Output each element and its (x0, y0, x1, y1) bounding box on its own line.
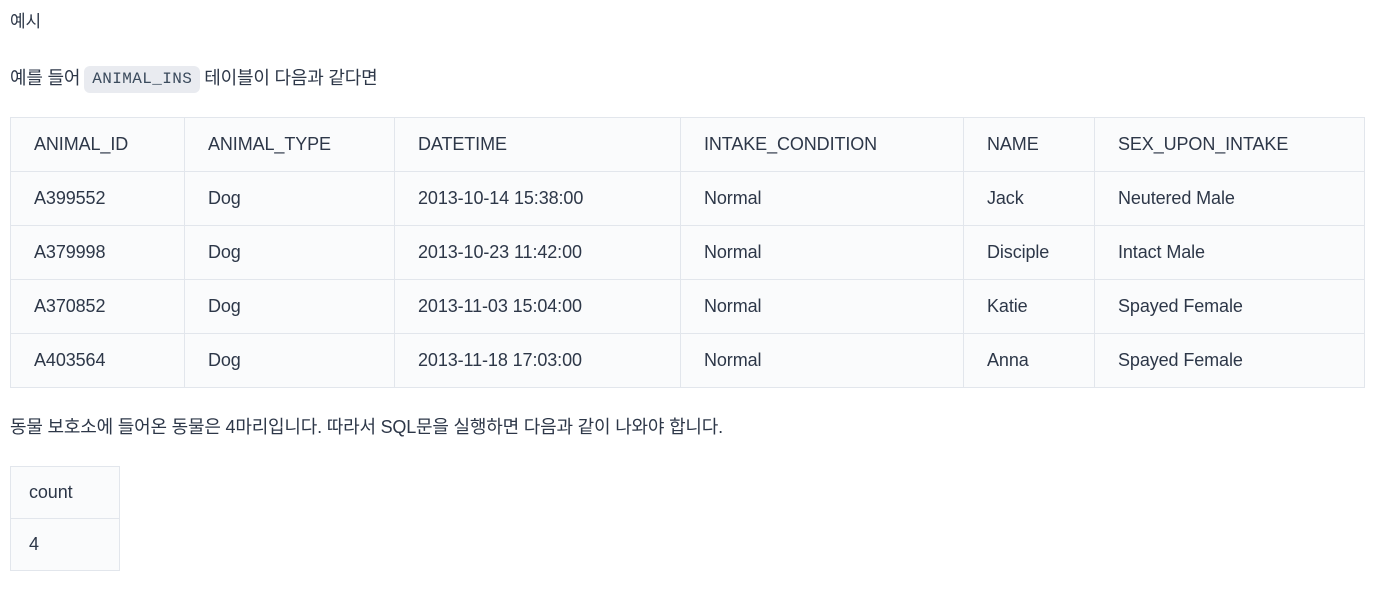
table-header-row: ANIMAL_ID ANIMAL_TYPE DATETIME INTAKE_CO… (11, 117, 1365, 171)
cell-animal-type: Dog (185, 225, 395, 279)
cell-intake-condition: Normal (681, 225, 964, 279)
table-name-code-chip: ANIMAL_INS (84, 66, 200, 93)
count-table-body: 4 (11, 518, 120, 570)
column-header-animal-id: ANIMAL_ID (11, 117, 185, 171)
cell-intake-condition: Normal (681, 333, 964, 387)
section-heading: 예시 (10, 0, 1364, 35)
cell-sex-upon-intake: Intact Male (1095, 225, 1365, 279)
intro-text-before: 예를 들어 (10, 68, 80, 88)
table-row: A379998 Dog 2013-10-23 11:42:00 Normal D… (11, 225, 1365, 279)
cell-name: Jack (964, 171, 1095, 225)
count-table-head: count (11, 466, 120, 518)
count-result-table: count 4 (10, 466, 120, 571)
cell-count-value: 4 (11, 518, 120, 570)
column-header-sex-upon-intake: SEX_UPON_INTAKE (1095, 117, 1365, 171)
column-header-intake-condition: INTAKE_CONDITION (681, 117, 964, 171)
cell-intake-condition: Normal (681, 171, 964, 225)
cell-animal-type: Dog (185, 171, 395, 225)
cell-animal-id: A370852 (11, 279, 185, 333)
table-row: A399552 Dog 2013-10-14 15:38:00 Normal J… (11, 171, 1365, 225)
column-header-datetime: DATETIME (395, 117, 681, 171)
cell-datetime: 2013-10-23 11:42:00 (395, 225, 681, 279)
animal-ins-table-body: A399552 Dog 2013-10-14 15:38:00 Normal J… (11, 171, 1365, 387)
cell-name: Disciple (964, 225, 1095, 279)
cell-datetime: 2013-10-14 15:38:00 (395, 171, 681, 225)
table-row: A403564 Dog 2013-11-18 17:03:00 Normal A… (11, 333, 1365, 387)
cell-name: Katie (964, 279, 1095, 333)
intro-text-after: 테이블이 다음과 같다면 (204, 68, 377, 88)
column-header-animal-type: ANIMAL_TYPE (185, 117, 395, 171)
cell-sex-upon-intake: Spayed Female (1095, 333, 1365, 387)
table-header-row: count (11, 466, 120, 518)
animal-ins-table: ANIMAL_ID ANIMAL_TYPE DATETIME INTAKE_CO… (10, 117, 1365, 388)
cell-intake-condition: Normal (681, 279, 964, 333)
result-description-paragraph: 동물 보호소에 들어온 동물은 4마리입니다. 따라서 SQL문을 실행하면 다… (10, 388, 1364, 441)
animal-ins-table-head: ANIMAL_ID ANIMAL_TYPE DATETIME INTAKE_CO… (11, 117, 1365, 171)
cell-datetime: 2013-11-18 17:03:00 (395, 333, 681, 387)
cell-animal-type: Dog (185, 279, 395, 333)
document-page: 예시 예를 들어ANIMAL_INS테이블이 다음과 같다면 ANIMAL_ID… (0, 0, 1374, 606)
cell-datetime: 2013-11-03 15:04:00 (395, 279, 681, 333)
cell-sex-upon-intake: Neutered Male (1095, 171, 1365, 225)
intro-paragraph: 예를 들어ANIMAL_INS테이블이 다음과 같다면 (10, 35, 1364, 93)
table-row: A370852 Dog 2013-11-03 15:04:00 Normal K… (11, 279, 1365, 333)
table-row: 4 (11, 518, 120, 570)
column-header-name: NAME (964, 117, 1095, 171)
cell-animal-id: A403564 (11, 333, 185, 387)
cell-name: Anna (964, 333, 1095, 387)
cell-animal-type: Dog (185, 333, 395, 387)
cell-sex-upon-intake: Spayed Female (1095, 279, 1365, 333)
column-header-count: count (11, 466, 120, 518)
cell-animal-id: A379998 (11, 225, 185, 279)
cell-animal-id: A399552 (11, 171, 185, 225)
